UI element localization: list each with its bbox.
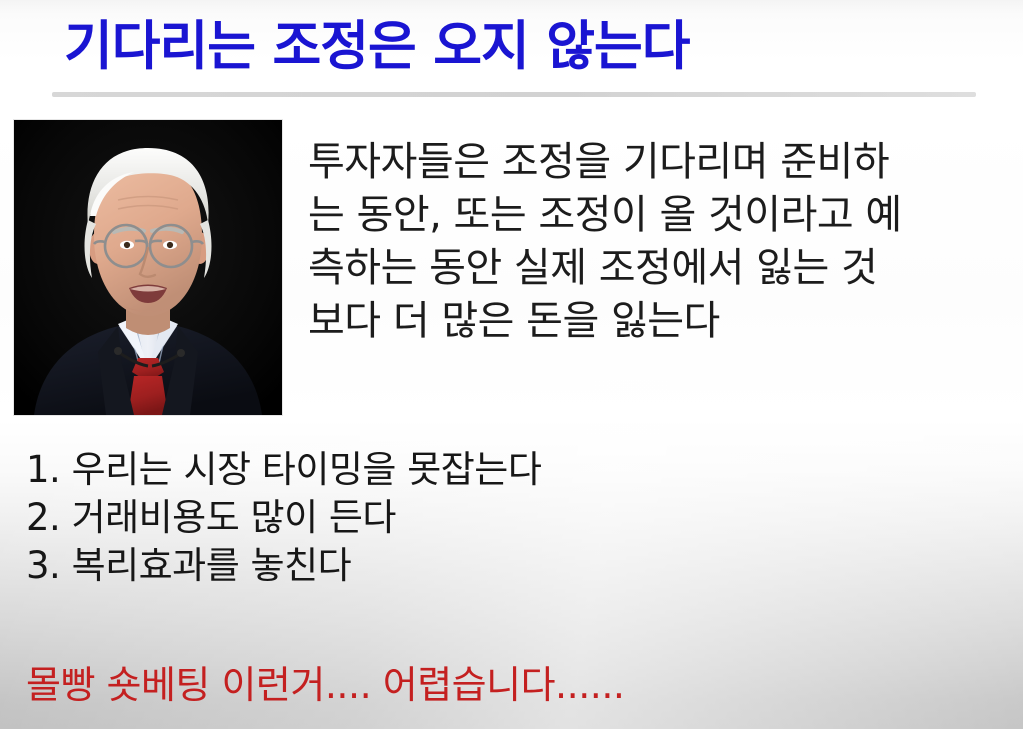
page-title: 기다리는 조정은 오지 않는다 [64, 16, 689, 78]
quote-line-1: 투자자들은 조정을 기다리며 준비하 [308, 136, 1008, 189]
quote-line-3: 측하는 동안 실제 조정에서 잃는 것 [308, 242, 1008, 295]
title-divider [52, 92, 976, 97]
quote-line-2: 는 동안, 또는 조정이 올 것이라고 예 [308, 189, 1008, 242]
list-item: 2. 거래비용도 많이 든다 [26, 496, 541, 540]
footnote-caption: 몰빵 숏베팅 이런거.... 어렵습니다...... [26, 662, 625, 708]
portrait-photo [14, 120, 282, 415]
numbered-list: 1. 우리는 시장 타이밍을 못잡는다 2. 거래비용도 많이 든다 3. 복리… [26, 448, 541, 592]
list-item: 3. 복리효과를 놓친다 [26, 544, 541, 588]
slide-canvas: 기다리는 조정은 오지 않는다 [0, 0, 1023, 729]
list-item: 1. 우리는 시장 타이밍을 못잡는다 [26, 448, 541, 492]
quote-line-4: 보다 더 많은 돈을 잃는다 [308, 295, 1008, 348]
quote-text: 투자자들은 조정을 기다리며 준비하 는 동안, 또는 조정이 올 것이라고 예… [308, 136, 1008, 348]
portrait-illustration [14, 120, 282, 415]
